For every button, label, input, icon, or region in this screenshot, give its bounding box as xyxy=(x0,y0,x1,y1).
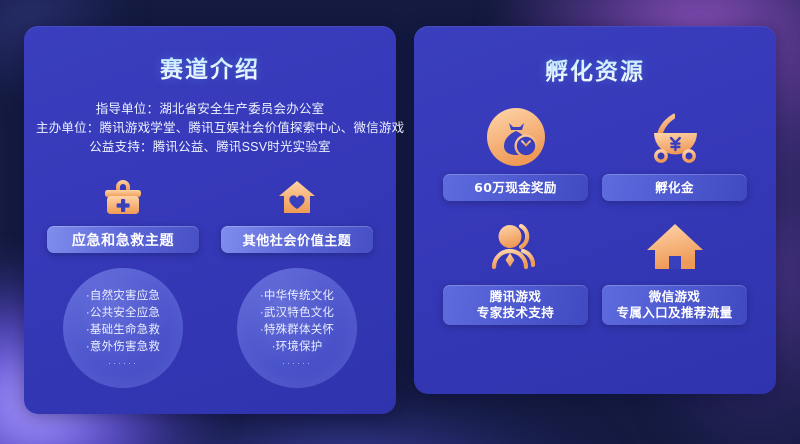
bubble-item: ·环境保护 xyxy=(272,339,323,356)
bubble-item: ·中华传统文化 xyxy=(260,288,334,305)
resource-label-line2: 专家技术支持 xyxy=(477,305,554,321)
bubble-item: ·公共安全应急 xyxy=(86,305,160,322)
poster-canvas: 赛道介绍 指导单位：湖北省安全生产委员会办公室 主办单位：腾讯游戏学堂、腾讯互娱… xyxy=(0,0,800,444)
money-bag-circle-icon xyxy=(485,100,547,174)
page-title-track-introduction: 赛道介绍 xyxy=(24,50,396,84)
theme-columns: 应急和急救主题 ·自然灾害应急 ·公共安全应急 ·基础生命急救 ·意外伤害急救 … xyxy=(24,173,396,388)
resource-pill-expert-support[interactable]: 腾讯游戏 专家技术支持 xyxy=(443,285,588,325)
page-title-incubation-resources: 孵化资源 xyxy=(414,52,776,86)
resource-pill-wechat-entry[interactable]: 微信游戏 专属入口及推荐流量 xyxy=(602,285,747,325)
resource-label-line1: 微信游戏 xyxy=(649,289,701,305)
experts-people-icon xyxy=(485,211,547,285)
resource-label-line2: 专属入口及推荐流量 xyxy=(616,305,732,321)
bubble-item: ·武汉特色文化 xyxy=(260,305,334,322)
bubble-item: ·意外伤害急救 xyxy=(86,339,160,356)
house-heart-icon xyxy=(275,173,319,217)
bubble-ellipsis: ······ xyxy=(282,358,312,368)
resource-pill-incubation-fund[interactable]: 孵化金 xyxy=(602,174,747,201)
theme-bubble-social-value: ·中华传统文化 ·武汉特色文化 ·特殊群体关怀 ·环境保护 ······ xyxy=(237,268,357,388)
bubble-item: ·特殊群体关怀 xyxy=(260,322,334,339)
intro-line-hosts: 主办单位：腾讯游戏学堂、腾讯互娱社会价值探索中心、微信游戏 xyxy=(36,119,384,138)
bubble-item: ·自然灾害应急 xyxy=(86,288,160,305)
organizers-block: 指导单位：湖北省安全生产委员会办公室 主办单位：腾讯游戏学堂、腾讯互娱社会价值探… xyxy=(24,100,396,157)
resource-label-line1: 孵化金 xyxy=(655,180,694,196)
resource-label-line1: 60万现金奖励 xyxy=(474,180,557,196)
track-introduction-panel: 赛道介绍 指导单位：湖北省安全生产委员会办公室 主办单位：腾讯游戏学堂、腾讯互娱… xyxy=(24,26,396,414)
resource-cell-cash-prize: 60万现金奖励 xyxy=(443,100,588,201)
bubble-item: ·基础生命急救 xyxy=(86,322,160,339)
intro-line-charity: 公益支持：腾讯公益、腾讯SSV时光实验室 xyxy=(36,138,384,157)
resource-pill-cash-prize[interactable]: 60万现金奖励 xyxy=(443,174,588,201)
house-solid-icon xyxy=(644,211,706,285)
stroller-yen-icon xyxy=(644,100,706,174)
resource-cell-incubation-fund: 孵化金 xyxy=(602,100,747,201)
pill-theme-emergency[interactable]: 应急和急救主题 xyxy=(47,226,199,253)
bubble-ellipsis: ······ xyxy=(108,358,138,368)
intro-line-guidance: 指导单位：湖北省安全生产委员会办公室 xyxy=(36,100,384,119)
resource-label-line1: 腾讯游戏 xyxy=(490,289,542,305)
theme-column-emergency: 应急和急救主题 ·自然灾害应急 ·公共安全应急 ·基础生命急救 ·意外伤害急救 … xyxy=(47,173,199,388)
theme-bubble-emergency: ·自然灾害应急 ·公共安全应急 ·基础生命急救 ·意外伤害急救 ······ xyxy=(63,268,183,388)
resources-grid: 60万现金奖励 xyxy=(414,100,776,325)
resource-cell-expert-support: 腾讯游戏 专家技术支持 xyxy=(443,211,588,325)
pill-theme-social-value[interactable]: 其他社会价值主题 xyxy=(221,226,373,253)
incubation-resources-panel: 孵化资源 xyxy=(414,26,776,394)
theme-column-social-value: 其他社会价值主题 ·中华传统文化 ·武汉特色文化 ·特殊群体关怀 ·环境保护 ·… xyxy=(221,173,373,388)
medical-kit-icon xyxy=(101,173,145,217)
resource-cell-wechat-entry: 微信游戏 专属入口及推荐流量 xyxy=(602,211,747,325)
